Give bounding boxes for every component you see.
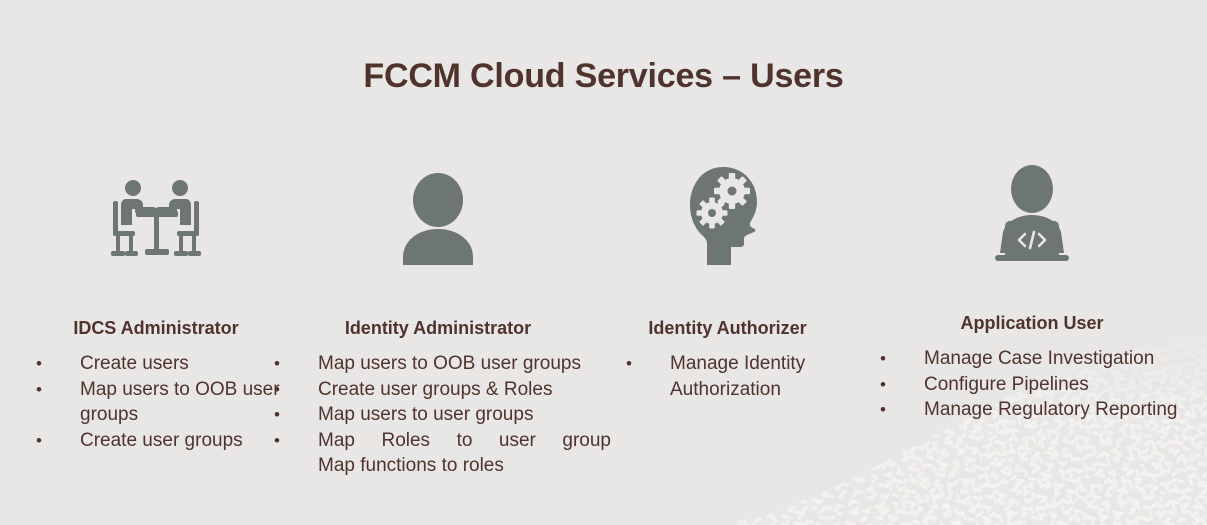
column-heading-identity-authorizer: Identity Authorizer — [600, 318, 855, 339]
list-item: Map users to OOB user groups — [28, 377, 290, 428]
column-heading-application-user: Application User — [862, 313, 1202, 334]
person-at-laptop-code-icon — [862, 160, 1202, 265]
column-heading-identity-administrator: Identity Administrator — [258, 318, 618, 339]
bullet-list-identity-authorizer: Manage Identity Authorization — [618, 351, 850, 402]
list-item: Create users — [28, 351, 290, 377]
person-silhouette-icon — [258, 160, 618, 265]
list-item: Manage Regulatory Reporting — [872, 397, 1197, 423]
list-item: Map users to user groups — [266, 402, 611, 428]
list-item: Manage Identity Authorization — [618, 351, 850, 402]
list-item: Map Roles to user group Map functions to… — [266, 428, 611, 479]
slide-canvas: FCCM Cloud Services – Users — [0, 0, 1207, 525]
list-item-line-1: Map Roles to user group — [318, 428, 611, 454]
list-item: Create user groups & Roles — [266, 377, 611, 403]
bullet-list-idcs-administrator: Create users Map users to OOB user group… — [28, 351, 290, 453]
list-item: Map users to OOB user groups — [266, 351, 611, 377]
list-item-line-2: Map functions to roles — [318, 453, 611, 479]
columns-container: IDCS Administrator Create users Map user… — [0, 0, 1207, 525]
list-item: Configure Pipelines — [872, 372, 1197, 398]
list-item: Create user groups — [28, 428, 290, 454]
head-with-gears-icon — [600, 160, 855, 265]
bullet-list-identity-administrator: Map users to OOB user groups Create user… — [266, 351, 611, 479]
bullet-list-application-user: Manage Case Investigation Configure Pipe… — [872, 346, 1197, 423]
list-item: Manage Case Investigation — [872, 346, 1197, 372]
